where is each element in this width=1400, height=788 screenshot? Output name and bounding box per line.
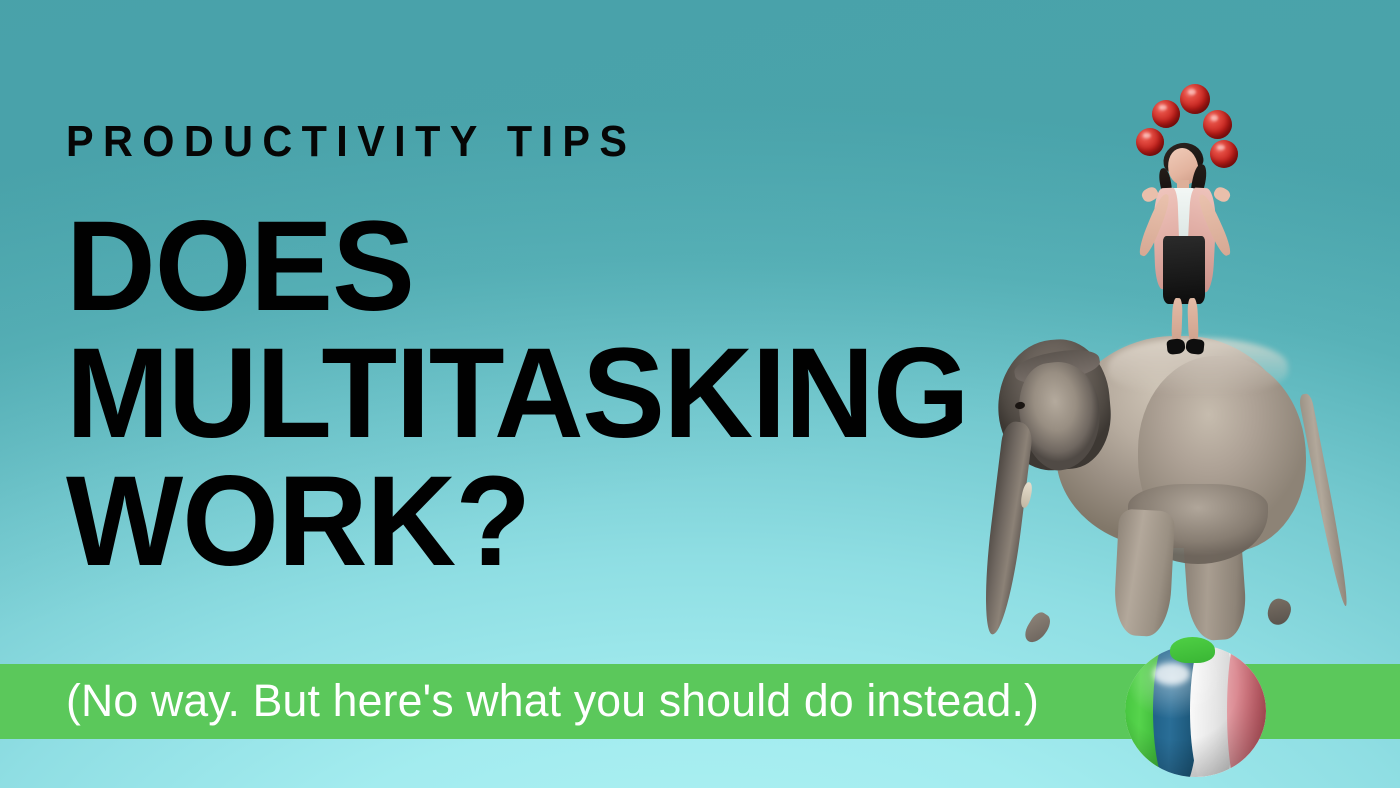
headline-line-3: WORK? <box>66 458 1017 585</box>
subtitle-text: (No way. But here's what you should do i… <box>66 671 1039 731</box>
elephant-tail-tuft <box>1264 596 1294 628</box>
juggling-ball-3 <box>1203 110 1232 139</box>
beach-ball-valve-cap <box>1170 637 1215 663</box>
headline-line-2: MULTITASKING <box>66 330 1017 457</box>
juggler-shoe-right <box>1185 338 1204 355</box>
elephant-figure <box>968 334 1368 664</box>
elephant-front-leg <box>1113 509 1176 638</box>
elephant-tail <box>1298 393 1352 608</box>
juggler-leg-left <box>1171 298 1183 344</box>
elephant-trunk-tip <box>1021 609 1054 646</box>
juggler-figure <box>1130 140 1240 355</box>
beach-ball-highlight <box>1153 663 1190 684</box>
eyebrow-label: PRODUCTIVITY TIPS <box>66 120 987 164</box>
elephant-trunk <box>978 420 1034 636</box>
juggler-shoe-left <box>1166 338 1185 355</box>
juggling-ball-1 <box>1180 84 1210 114</box>
page-title: DOES MULTITASKING WORK? <box>66 203 1046 585</box>
beach-ball <box>1125 645 1266 777</box>
juggler-leg-right <box>1187 298 1199 344</box>
juggler-skirt <box>1163 236 1205 304</box>
beach-ball-body <box>1125 645 1266 777</box>
text-block: PRODUCTIVITY TIPS DOES MULTITASKING WORK… <box>66 120 1046 585</box>
juggling-ball-2 <box>1152 100 1180 128</box>
headline-line-1: DOES <box>66 203 1017 330</box>
beach-ball-shading <box>1125 645 1266 777</box>
juggling-ball-5 <box>1210 140 1238 168</box>
juggling-ball-4 <box>1136 128 1164 156</box>
poster-canvas: PRODUCTIVITY TIPS DOES MULTITASKING WORK… <box>0 0 1400 788</box>
juggler-hand-right <box>1212 185 1232 204</box>
